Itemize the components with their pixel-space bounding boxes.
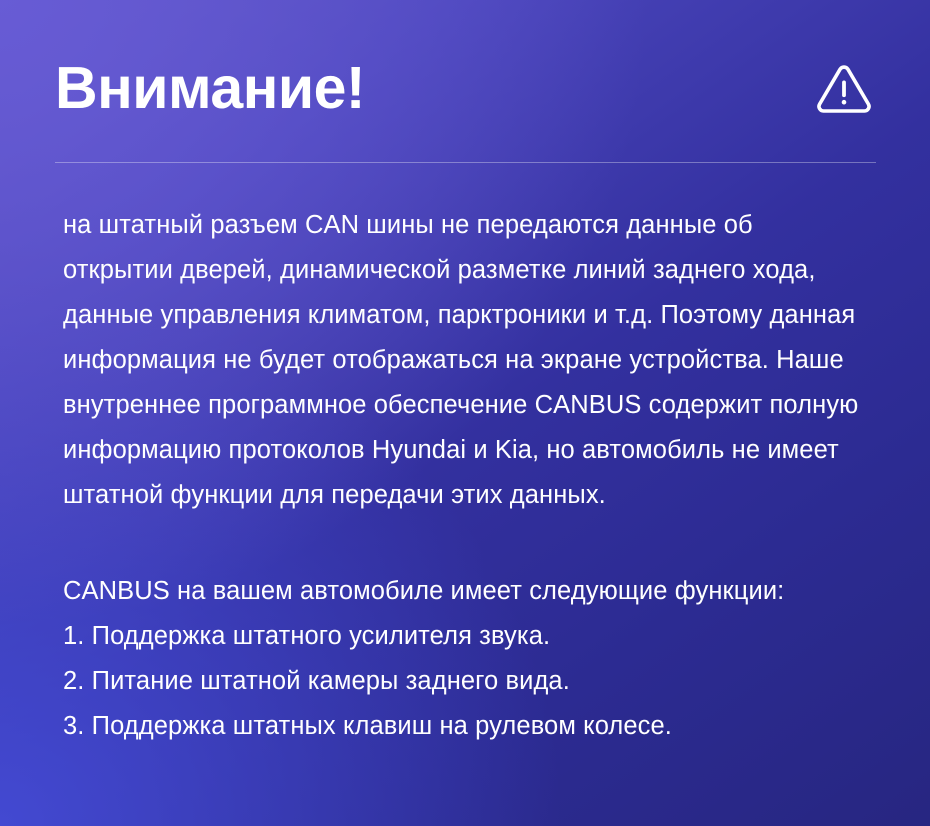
features-list: 1. Поддержка штатного усилителя звука. 2… bbox=[63, 614, 869, 749]
body-paragraph: на штатный разъем CAN шины не передаются… bbox=[52, 163, 878, 518]
list-item: 2. Питание штатной камеры заднего вида. bbox=[63, 659, 869, 704]
slide-content: Внимание! на штатный разъем CAN шины не … bbox=[0, 0, 930, 826]
list-item: 1. Поддержка штатного усилителя звука. bbox=[63, 614, 869, 659]
warning-triangle-icon bbox=[816, 64, 872, 116]
warning-slide: Внимание! на штатный разъем CAN шины не … bbox=[0, 0, 930, 826]
slide-header: Внимание! bbox=[52, 0, 878, 118]
features-heading: CANBUS на вашем автомобиле имеет следующ… bbox=[63, 569, 869, 614]
features-section: CANBUS на вашем автомобиле имеет следующ… bbox=[52, 569, 878, 749]
list-item: 3. Поддержка штатных клавиш на рулевом к… bbox=[63, 704, 869, 749]
page-title: Внимание! bbox=[52, 59, 365, 118]
